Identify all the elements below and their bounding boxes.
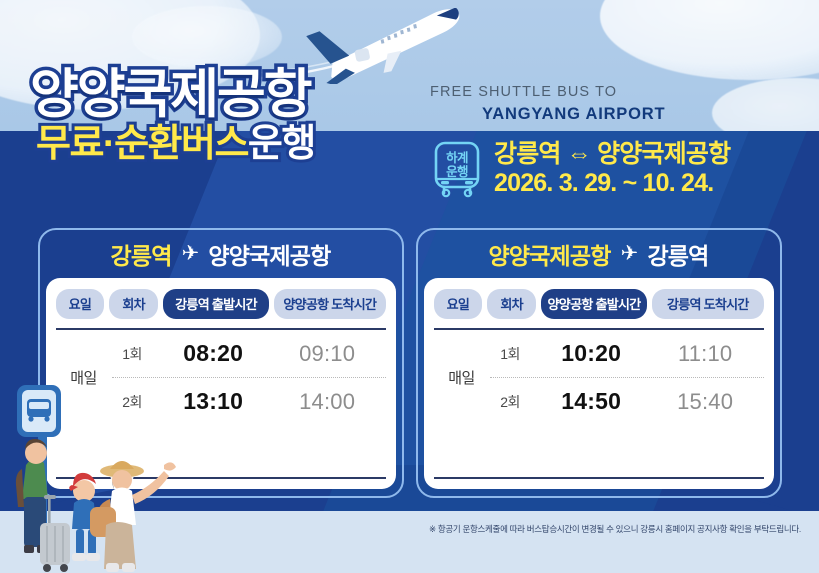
row-trip: 2회: [485, 392, 536, 412]
row-departure-time: 10:20: [536, 340, 647, 367]
hero-subtitle-tail: 운행: [248, 123, 315, 165]
footnote-text: ※ 항공기 운항스케줄에 따라 버스탑승시간이 변경될 수 있으니 강릉시 홈페…: [429, 523, 801, 535]
table-bottom-rule: [434, 477, 764, 479]
row-arrival-time: 11:10: [647, 341, 764, 367]
card-origin: 양양국제공항: [488, 237, 610, 271]
hero-title-block: 양양국제공항 무료·순환버스운행: [30, 68, 430, 163]
row-arrival-time: 14:00: [269, 389, 386, 415]
card-header: 양양국제공항 ✈ 강릉역: [418, 230, 780, 278]
row-departure-time: 14:50: [536, 388, 647, 415]
english-tagline-line1: FREE SHUTTLE BUS TO: [430, 84, 617, 100]
hero-subtitle-highlight: 무료·순환버스: [36, 123, 248, 165]
table-header-row: 요일 회차 양양공항 출발시간 강릉역 도착시간: [434, 289, 764, 319]
traveler-woman-waving: [72, 433, 182, 573]
airplane-icon: ✈: [182, 241, 199, 266]
card-destination: 강릉역: [647, 237, 708, 271]
bus-badge-label: 하계 운행: [432, 151, 482, 179]
bus-badge: 하계 운행: [432, 140, 482, 198]
card-destination: 양양국제공항: [208, 237, 330, 271]
route-name: 강릉역 ⇔ 양양국제공항: [494, 142, 730, 168]
row-arrival-time: 15:40: [647, 389, 764, 415]
column-header-trip: 회차: [109, 289, 158, 319]
row-departure-time: 08:20: [158, 340, 269, 367]
table-header-row: 요일 회차 강릉역 출발시간 양양공항 도착시간: [56, 289, 386, 319]
card-origin: 강릉역: [110, 237, 171, 271]
bus-badge-line2: 운행: [432, 165, 482, 179]
row-trip: 1회: [107, 344, 158, 364]
column-header-day: 요일: [56, 289, 105, 319]
schedule-card-inbound: 양양국제공항 ✈ 강릉역 요일 회차 양양공항 출발시간 강릉역 도착시간 매일…: [416, 228, 782, 498]
card-body: 요일 회차 양양공항 출발시간 강릉역 도착시간 매일 1회 10:20 11:…: [424, 278, 774, 489]
day-label: 매일: [434, 330, 490, 425]
route-summary: 하계 운행 강릉역 ⇔ 양양국제공항 2026. 3. 29. ~ 10. 24…: [432, 140, 730, 198]
route-dates: 2026. 3. 29. ~ 10. 24.: [494, 171, 730, 197]
column-header-trip: 회차: [487, 289, 536, 319]
english-tagline-line2: YANGYANG AIRPORT: [482, 103, 665, 127]
poster-root: 양양국제공항 무료·순환버스운행 FREE SHUTTLE BUS TO YAN…: [0, 0, 819, 573]
english-tagline: FREE SHUTTLE BUS TO YANGYANG AIRPORT: [430, 82, 665, 127]
row-departure-time: 13:10: [158, 388, 269, 415]
column-header-departure: 양양공항 출발시간: [541, 289, 647, 319]
airplane-icon: ✈: [621, 241, 638, 266]
hero-subtitle: 무료·순환버스운행: [36, 125, 430, 163]
column-header-arrival: 양양공항 도착시간: [274, 289, 385, 319]
table-rows: 매일 1회 10:20 11:10 2회 14:50 15:40: [434, 330, 764, 425]
row-trip: 1회: [485, 344, 536, 364]
bus-badge-line1: 하계: [432, 151, 482, 165]
column-header-departure: 강릉역 출발시간: [163, 289, 269, 319]
card-header: 강릉역 ✈ 양양국제공항: [40, 230, 402, 278]
column-header-arrival: 강릉역 도착시간: [652, 289, 763, 319]
column-header-day: 요일: [434, 289, 483, 319]
row-arrival-time: 09:10: [269, 341, 386, 367]
route-text-block: 강릉역 ⇔ 양양국제공항 2026. 3. 29. ~ 10. 24.: [494, 142, 730, 197]
page-title: 양양국제공항: [30, 68, 430, 121]
